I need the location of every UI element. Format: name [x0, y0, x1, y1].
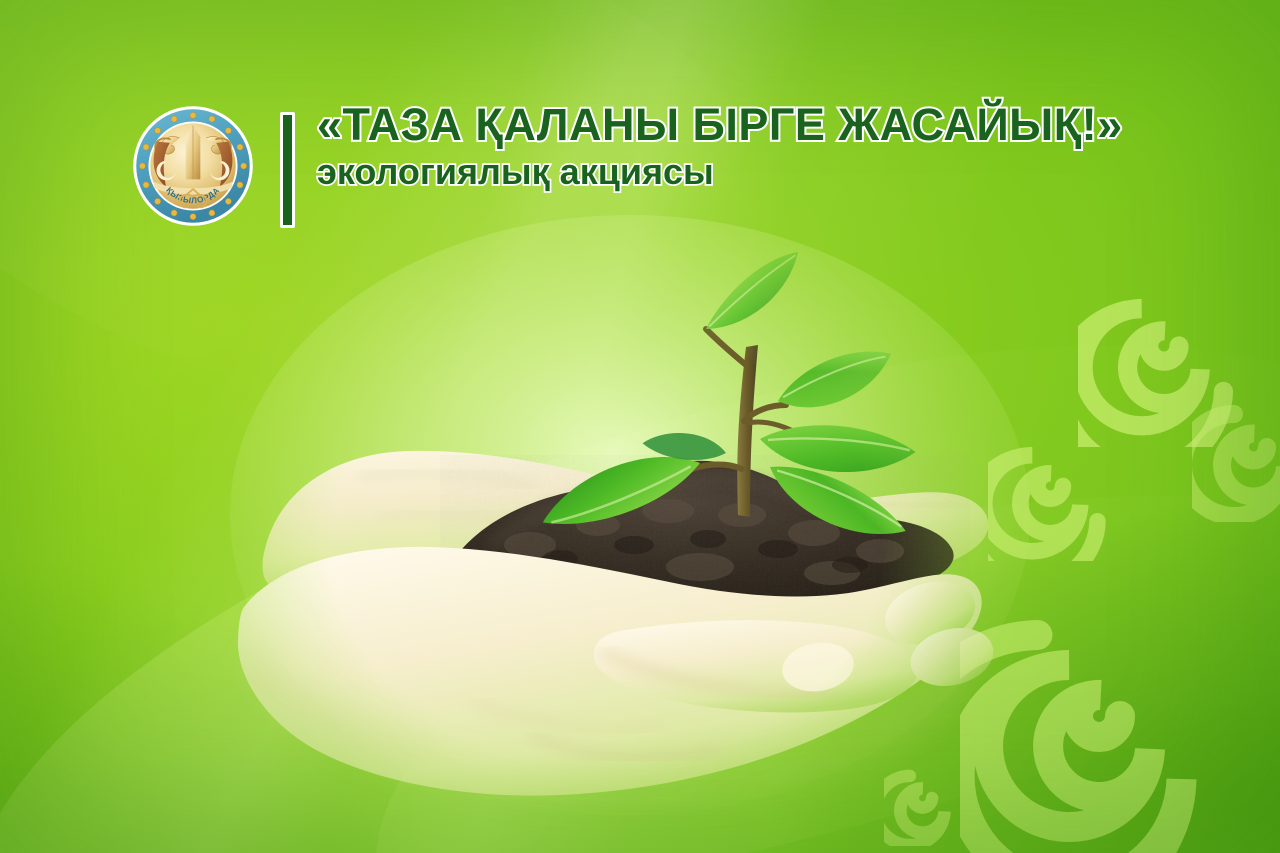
poster-subtitle: экологиялық акциясы: [317, 153, 1123, 191]
cupped-hand-front: [238, 547, 1000, 812]
poster-header: ҚЫЗЫЛОРДА «ТАЗА ҚАЛАНЫ БІРГЕ ЖАСАЙЫҚ!» э…: [132, 98, 1123, 228]
poster-title: «ТАЗА ҚАЛАНЫ БІРГЕ ЖАСАЙЫҚ!»: [317, 102, 1123, 149]
hands-holding-soil-with-seedling: [230, 215, 1050, 853]
vertical-bar-icon: [280, 112, 295, 228]
poster-canvas: ҚЫЗЫЛОРДА «ТАЗА ҚАЛАНЫ БІРГЕ ЖАСАЙЫҚ!» э…: [0, 0, 1280, 853]
title-block: «ТАЗА ҚАЛАНЫ БІРГЕ ЖАСАЙЫҚ!» экологиялық…: [317, 102, 1123, 191]
kyzylorda-coat-of-arms-icon: ҚЫЗЫЛОРДА: [132, 104, 254, 228]
